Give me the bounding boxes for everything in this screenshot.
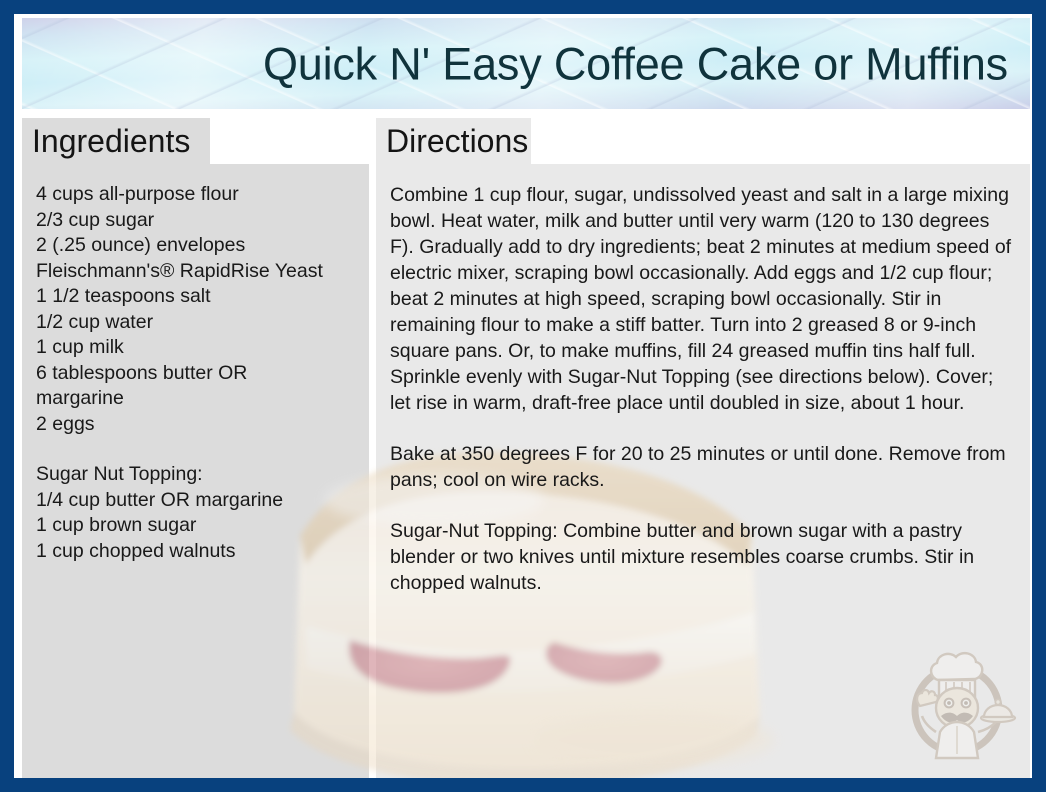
list-item: 6 tablespoons butter OR: [36, 361, 355, 387]
directions-paragraph: Combine 1 cup flour, sugar, undissolved …: [390, 182, 1016, 416]
directions-text: Combine 1 cup flour, sugar, undissolved …: [390, 182, 1016, 596]
list-item: 4 cups all-purpose flour: [36, 182, 355, 208]
ingredients-heading: Ingredients: [32, 123, 190, 159]
tab-ingredients[interactable]: Ingredients: [22, 118, 210, 164]
recipe-title: Quick N' Easy Coffee Cake or Muffins: [22, 41, 1008, 86]
directions-paragraph: Bake at 350 degrees F for 20 to 25 minut…: [390, 441, 1016, 493]
recipe-page: Quick N' Easy Coffee Cake or Muffins: [14, 14, 1032, 778]
directions-paragraph: Sugar-Nut Topping: Combine butter and br…: [390, 518, 1016, 596]
title-banner: Quick N' Easy Coffee Cake or Muffins: [22, 18, 1030, 109]
ingredients-list: 4 cups all-purpose flour 2/3 cup sugar 2…: [36, 182, 355, 564]
recipe-columns: Ingredients 4 cups all-purpose flour 2/3…: [22, 118, 1030, 778]
list-item: 1 cup chopped walnuts: [36, 539, 355, 565]
recipe-card: Quick N' Easy Coffee Cake or Muffins: [0, 0, 1046, 792]
list-item: Fleischmann's® RapidRise Yeast: [36, 259, 355, 285]
list-item: 2 eggs: [36, 412, 355, 438]
topping-heading: Sugar Nut Topping:: [36, 462, 355, 488]
list-item: 2 (.25 ounce) envelopes: [36, 233, 355, 259]
ingredients-panel: 4 cups all-purpose flour 2/3 cup sugar 2…: [22, 164, 369, 778]
list-item: 1 cup milk: [36, 335, 355, 361]
list-item: 1 1/2 teaspoons salt: [36, 284, 355, 310]
directions-heading: Directions: [386, 123, 528, 159]
list-item: 1 cup brown sugar: [36, 513, 355, 539]
list-item: 1/2 cup water: [36, 310, 355, 336]
list-item: margarine: [36, 386, 355, 412]
tab-directions[interactable]: Directions: [376, 118, 531, 164]
list-item: 1/4 cup butter OR margarine: [36, 488, 355, 514]
list-item: 2/3 cup sugar: [36, 208, 355, 234]
directions-panel: Combine 1 cup flour, sugar, undissolved …: [376, 164, 1030, 778]
list-spacer: [36, 437, 355, 462]
